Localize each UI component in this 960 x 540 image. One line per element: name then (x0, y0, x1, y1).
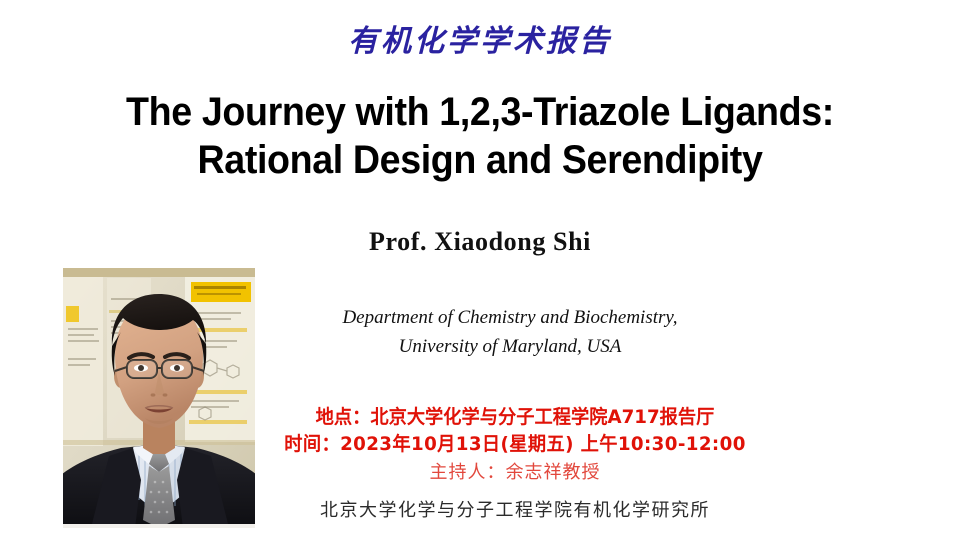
title-line-2: Rational Design and Serendipity (29, 136, 931, 184)
event-host: 主持人：余志祥教授 (235, 458, 795, 486)
title-line-1: The Journey with 1,2,3-Triazole Ligands: (29, 88, 931, 136)
speaker-name: Prof. Xiaodong Shi (0, 227, 960, 257)
affiliation-line-2: University of Maryland, USA (230, 332, 790, 361)
affiliation-line-1: Department of Chemistry and Biochemistry… (230, 303, 790, 332)
seminar-poster: 有机化学学术报告 The Journey with 1,2,3-Triazole… (0, 0, 960, 540)
organizer-institute: 北京大学化学与分子工程学院有机化学研究所 (235, 497, 795, 523)
speaker-affiliation: Department of Chemistry and Biochemistry… (230, 303, 790, 361)
speaker-photo (63, 268, 255, 528)
event-time: 时间：2023年10月13日(星期五) 上午10:30-12:00 (246, 431, 784, 458)
series-header: 有机化学学术报告 (0, 26, 960, 58)
speaker-portrait-image (63, 268, 255, 528)
event-venue: 地点：北京大学化学与分子工程学院A717报告厅 (246, 404, 784, 431)
event-details: 地点：北京大学化学与分子工程学院A717报告厅 时间：2023年10月13日(星… (235, 404, 795, 486)
page-title: The Journey with 1,2,3-Triazole Ligands:… (0, 88, 960, 184)
